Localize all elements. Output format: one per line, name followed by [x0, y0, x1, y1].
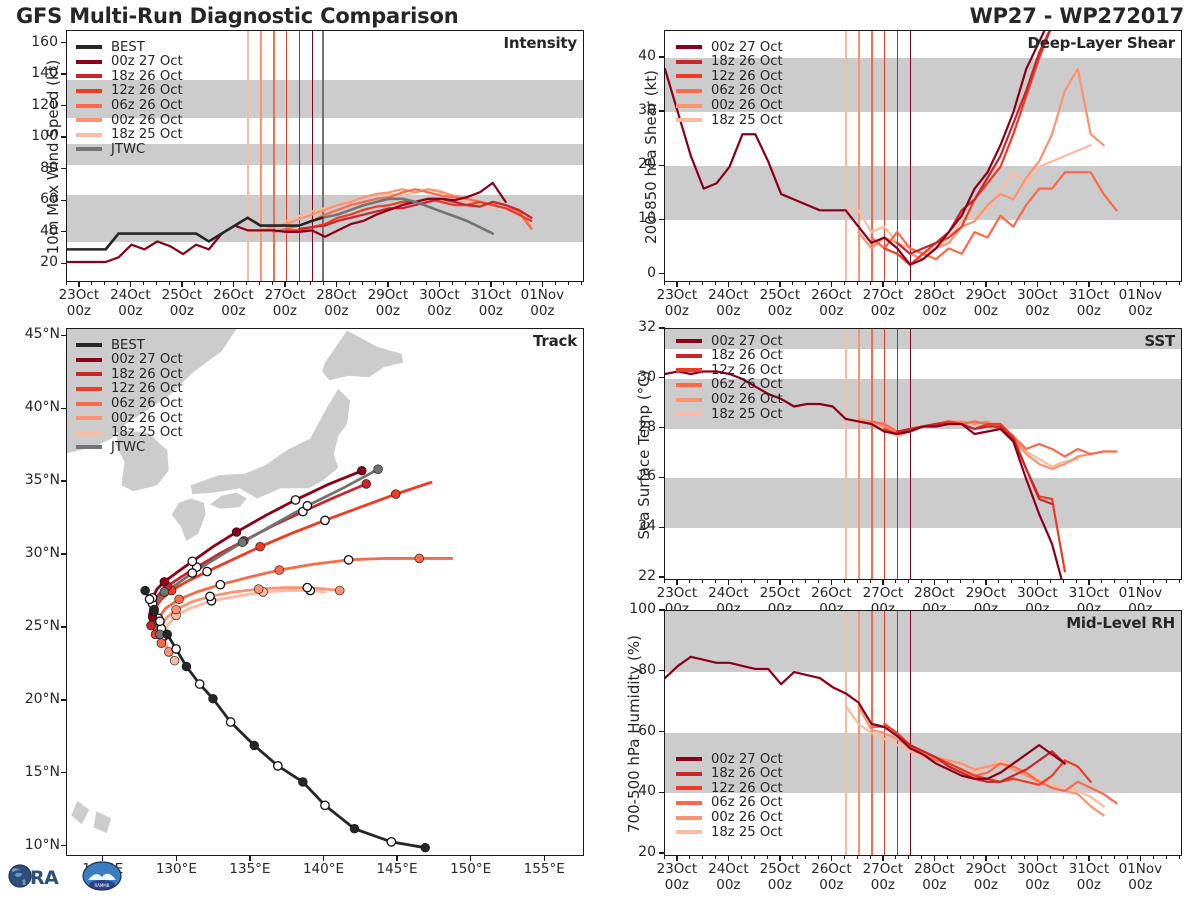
x-minor-tick: [130, 281, 131, 285]
lon-tick-label: 150°E: [436, 861, 506, 877]
track-marker-12z: [291, 496, 299, 504]
x-minor-tick: [1140, 855, 1141, 859]
track-marker-12z: [188, 557, 196, 565]
panel-title-track: Track: [533, 332, 577, 350]
svg-text:RAMMB: RAMMB: [95, 883, 110, 888]
y-tick-label: 32: [612, 319, 656, 335]
legend-swatch: [76, 358, 102, 362]
legend-swatch: [76, 387, 102, 391]
legend-swatch: [76, 343, 102, 347]
track-marker-12z: [188, 569, 196, 577]
axis-label-sst-y: Sea Surface Temp (°C): [635, 330, 653, 580]
track-marker-00z: [250, 741, 259, 750]
x-minor-tick: [664, 281, 665, 285]
series-18z-26-oct: [897, 424, 1052, 504]
track-marker-00z: [150, 605, 159, 614]
legend-label: 00z 26 Oct: [711, 99, 783, 112]
legend-label: 00z 27 Oct: [111, 353, 183, 366]
lat-tick-label: 30°N: [0, 545, 60, 561]
legend-swatch: [76, 416, 102, 420]
track-marker-12z: [274, 762, 282, 770]
x-minor-tick: [947, 855, 948, 859]
legend-label: 06z 26 Oct: [711, 84, 783, 97]
x-tick-sublabel: 00z: [507, 303, 577, 319]
track-marker-00z: [232, 528, 241, 537]
x-minor-tick: [1153, 281, 1154, 285]
legend-swatch: [76, 45, 102, 49]
x-minor-tick: [503, 281, 504, 285]
legend-swatch: [676, 412, 702, 416]
track-marker-00z: [147, 621, 156, 630]
x-minor-tick: [844, 281, 845, 285]
track-marker-00z: [175, 595, 184, 604]
legend-label: 18z 26 Oct: [711, 349, 783, 362]
x-minor-tick: [465, 281, 466, 285]
x-minor-tick: [728, 579, 729, 583]
track-marker-00z: [357, 466, 366, 475]
x-minor-tick: [857, 579, 858, 583]
y-tick-label: 20: [612, 156, 656, 172]
legend-swatch: [76, 104, 102, 108]
legend-item-00z-26-oct: 00z 26 Oct: [76, 411, 183, 426]
legend-sst: 00z 27 Oct18z 26 Oct12z 26 Oct06z 26 Oct…: [676, 334, 783, 422]
legend-swatch: [676, 339, 702, 343]
x-minor-tick: [934, 579, 935, 583]
x-minor-tick: [1011, 579, 1012, 583]
x-minor-tick: [818, 855, 819, 859]
x-minor-tick: [1153, 579, 1154, 583]
x-minor-tick: [882, 281, 883, 285]
legend-item-12z-26-oct: 12z 26 Oct: [76, 84, 183, 99]
x-minor-tick: [117, 281, 118, 285]
legend-item-00z-27-oct: 00z 27 Oct: [76, 353, 183, 368]
x-minor-tick: [728, 281, 729, 285]
x-minor-tick: [934, 281, 935, 285]
y-tick-label: 26: [612, 468, 656, 484]
legend-label: 18z 26 Oct: [711, 55, 783, 68]
track-marker-12z: [145, 595, 153, 603]
landmass-islands-sw2: [71, 801, 89, 824]
legend-label: 00z 27 Oct: [711, 41, 783, 54]
legend-swatch: [676, 45, 702, 49]
x-minor-tick: [895, 281, 896, 285]
legend-item-06z-26-oct: 06z 26 Oct: [676, 378, 783, 393]
legend-label: 12z 26 Oct: [711, 782, 783, 795]
legend-item-best: BEST: [76, 40, 183, 55]
legend-swatch: [676, 830, 702, 834]
panel-title-rh: Mid-Level RH: [1066, 614, 1175, 632]
track-marker-00z: [275, 566, 284, 575]
x-minor-tick: [985, 579, 986, 583]
x-minor-tick: [1166, 855, 1167, 859]
y-tick-label: 100: [612, 601, 656, 617]
x-minor-tick: [426, 281, 427, 285]
track-marker-12z: [216, 580, 224, 588]
y-tick-label: 30: [612, 369, 656, 385]
landmass-hokkaido: [322, 331, 403, 381]
x-minor-tick: [1179, 281, 1180, 285]
track-marker-12z: [321, 516, 329, 524]
x-minor-tick: [754, 855, 755, 859]
x-minor-tick: [375, 281, 376, 285]
y-tick-label: 100: [14, 128, 58, 144]
y-tick-label: 140: [14, 65, 58, 81]
x-minor-tick: [998, 855, 999, 859]
x-minor-tick: [169, 281, 170, 285]
x-minor-tick: [542, 281, 543, 285]
legend-label: BEST: [111, 41, 145, 54]
y-tick-label: 28: [612, 419, 656, 435]
x-minor-tick: [870, 855, 871, 859]
landmass-islands-sw: [94, 811, 112, 833]
legend-swatch: [76, 60, 102, 64]
x-minor-tick: [754, 579, 755, 583]
series-00z-26-oct: [858, 419, 1090, 469]
x-minor-tick: [1088, 281, 1089, 285]
legend-label: 12z 26 Oct: [111, 84, 183, 97]
track-marker-00z: [182, 662, 191, 671]
x-minor-tick: [1088, 855, 1089, 859]
legend-swatch: [676, 786, 702, 790]
x-minor-tick: [490, 281, 491, 285]
x-minor-tick: [1101, 579, 1102, 583]
track-marker-12z: [321, 801, 329, 809]
x-minor-tick: [882, 579, 883, 583]
legend-label: 06z 26 Oct: [711, 796, 783, 809]
track-marker-00z: [254, 585, 263, 594]
x-minor-tick: [805, 855, 806, 859]
legend-item-jtwc: JTWC: [76, 440, 183, 455]
lon-tick-mark: [323, 855, 324, 861]
track-marker-00z: [160, 588, 169, 597]
legend-item-18z-26-oct: 18z 26 Oct: [676, 349, 783, 364]
legend-swatch: [676, 118, 702, 122]
track-marker-00z: [421, 843, 430, 852]
x-minor-tick: [1101, 281, 1102, 285]
legend-rh: 00z 27 Oct18z 26 Oct12z 26 Oct06z 26 Oct…: [676, 752, 783, 840]
x-minor-tick: [792, 281, 793, 285]
x-minor-tick: [767, 855, 768, 859]
y-tick-label: 30: [612, 102, 656, 118]
x-minor-tick: [1076, 579, 1077, 583]
x-minor-tick: [857, 281, 858, 285]
y-tick-label: 80: [14, 160, 58, 176]
x-minor-tick: [1063, 855, 1064, 859]
legend-label: 00z 27 Oct: [711, 753, 783, 766]
panel-title-shear: Deep-Layer Shear: [1027, 34, 1175, 52]
x-minor-tick: [882, 855, 883, 859]
track-marker-00z: [256, 542, 265, 551]
legend-item-18z-25-oct: 18z 25 Oct: [676, 825, 783, 840]
x-minor-tick: [895, 855, 896, 859]
x-tick-label: 01Nov: [1105, 585, 1175, 601]
x-minor-tick: [676, 579, 677, 583]
x-minor-tick: [1114, 855, 1115, 859]
series-00z-26-oct: [858, 69, 1103, 259]
x-minor-tick: [1153, 855, 1154, 859]
lat-tick-label: 35°N: [0, 472, 60, 488]
x-minor-tick: [831, 855, 832, 859]
x-minor-tick: [194, 281, 195, 285]
lat-tick-label: 25°N: [0, 618, 60, 634]
legend-label: 18z 26 Oct: [111, 368, 183, 381]
series-06z-26-oct: [871, 172, 1116, 259]
x-minor-tick: [1024, 855, 1025, 859]
legend-swatch: [676, 772, 702, 776]
legend-label: 00z 27 Oct: [111, 55, 183, 68]
x-minor-tick: [1050, 281, 1051, 285]
x-minor-tick: [1127, 281, 1128, 285]
x-minor-tick: [1037, 579, 1038, 583]
x-minor-tick: [362, 281, 363, 285]
x-minor-tick: [323, 281, 324, 285]
x-minor-tick: [1063, 281, 1064, 285]
lon-tick-mark: [249, 855, 250, 861]
track-marker-00z: [170, 656, 179, 665]
y-tick-label: 120: [14, 97, 58, 113]
x-minor-tick: [413, 281, 414, 285]
x-tick-sublabel: 00z: [1105, 303, 1175, 319]
x-minor-tick: [581, 281, 582, 285]
legend-swatch: [76, 89, 102, 93]
track-marker-12z: [195, 680, 203, 688]
x-minor-tick: [870, 281, 871, 285]
x-minor-tick: [104, 281, 105, 285]
lon-tick-label: 145°E: [362, 861, 432, 877]
x-minor-tick: [387, 281, 388, 285]
x-minor-tick: [1050, 855, 1051, 859]
x-minor-tick: [1101, 855, 1102, 859]
lon-tick-mark: [470, 855, 471, 861]
figure-title-left: GFS Multi-Run Diagnostic Comparison: [16, 4, 458, 28]
x-minor-tick: [91, 281, 92, 285]
x-minor-tick: [1011, 281, 1012, 285]
legend-item-00z-27-oct: 00z 27 Oct: [676, 752, 783, 767]
legend-label: 18z 26 Oct: [111, 70, 183, 83]
x-minor-tick: [921, 855, 922, 859]
x-minor-tick: [1050, 579, 1051, 583]
x-minor-tick: [831, 281, 832, 285]
legend-label: 12z 26 Oct: [111, 382, 183, 395]
figure-title-right: WP27 - WP272017: [970, 4, 1184, 28]
x-minor-tick: [985, 855, 986, 859]
y-tick-label: 40: [612, 48, 656, 64]
x-minor-tick: [998, 281, 999, 285]
x-minor-tick: [754, 281, 755, 285]
x-minor-tick: [516, 281, 517, 285]
legend-swatch: [676, 74, 702, 78]
x-minor-tick: [529, 281, 530, 285]
x-minor-tick: [143, 281, 144, 285]
x-minor-tick: [792, 579, 793, 583]
lat-tick-label: 20°N: [0, 691, 60, 707]
x-minor-tick: [715, 579, 716, 583]
track-marker-00z: [163, 630, 172, 639]
x-minor-tick: [741, 579, 742, 583]
track-marker-00z: [362, 479, 371, 488]
legend-item-06z-26-oct: 06z 26 Oct: [676, 796, 783, 811]
legend-swatch: [76, 445, 102, 449]
x-minor-tick: [310, 281, 311, 285]
legend-swatch: [676, 354, 702, 358]
y-tick-label: 40: [612, 783, 656, 799]
x-minor-tick: [1076, 855, 1077, 859]
x-minor-tick: [1037, 855, 1038, 859]
y-tick-label: 60: [14, 191, 58, 207]
legend-item-00z-27-oct: 00z 27 Oct: [676, 334, 783, 349]
x-minor-tick: [857, 855, 858, 859]
x-minor-tick: [400, 281, 401, 285]
x-minor-tick: [78, 281, 79, 285]
track-marker-12z: [226, 718, 234, 726]
x-minor-tick: [555, 281, 556, 285]
x-minor-tick: [1140, 579, 1141, 583]
landmass-shikoku: [210, 493, 247, 509]
track-marker-00z: [335, 586, 344, 595]
svg-text:CIRA: CIRA: [10, 867, 59, 889]
x-minor-tick: [1127, 855, 1128, 859]
legend-item-00z-26-oct: 00z 26 Oct: [676, 392, 783, 407]
x-minor-tick: [960, 579, 961, 583]
x-minor-tick: [1114, 579, 1115, 583]
x-minor-tick: [1140, 281, 1141, 285]
x-minor-tick: [973, 281, 974, 285]
legend-label: 18z 26 Oct: [711, 767, 783, 780]
x-minor-tick: [1166, 281, 1167, 285]
x-minor-tick: [805, 281, 806, 285]
legend-label: 00z 26 Oct: [711, 393, 783, 406]
legend-item-18z-25-oct: 18z 25 Oct: [676, 407, 783, 422]
legend-item-18z-26-oct: 18z 26 Oct: [76, 367, 183, 382]
lon-tick-mark: [176, 855, 177, 861]
track-marker-00z: [415, 554, 424, 563]
legend-swatch: [676, 383, 702, 387]
x-minor-tick: [818, 281, 819, 285]
x-minor-tick: [220, 281, 221, 285]
x-minor-tick: [702, 281, 703, 285]
track-marker-00z: [298, 778, 307, 787]
x-tick-label: 01Nov: [1105, 287, 1175, 303]
y-tick-label: 20: [612, 844, 656, 860]
legend-item-06z-26-oct: 06z 26 Oct: [76, 98, 183, 113]
y-tick-label: 160: [14, 34, 58, 50]
x-minor-tick: [272, 281, 273, 285]
x-minor-tick: [715, 855, 716, 859]
lon-tick-mark: [396, 855, 397, 861]
lat-tick-label: 10°N: [0, 837, 60, 853]
x-minor-tick: [779, 281, 780, 285]
legend-item-00z-27-oct: 00z 27 Oct: [676, 40, 783, 55]
track-marker-12z: [303, 502, 311, 510]
x-minor-tick: [844, 855, 845, 859]
x-minor-tick: [792, 855, 793, 859]
track-marker-00z: [157, 639, 166, 648]
x-minor-tick: [689, 855, 690, 859]
x-minor-tick: [960, 855, 961, 859]
legend-item-18z-25-oct: 18z 25 Oct: [76, 426, 183, 441]
lon-tick-mark: [544, 855, 545, 861]
x-minor-tick: [1114, 281, 1115, 285]
legend-label: 18z 25 Oct: [711, 114, 783, 127]
x-minor-tick: [478, 281, 479, 285]
legend-swatch: [676, 757, 702, 761]
x-minor-tick: [921, 281, 922, 285]
x-minor-tick: [181, 281, 182, 285]
x-minor-tick: [715, 281, 716, 285]
panel-title-sst: SST: [1144, 332, 1175, 350]
track-marker-00z: [238, 538, 247, 547]
x-minor-tick: [676, 281, 677, 285]
track-marker-12z: [172, 645, 180, 653]
x-minor-tick: [297, 281, 298, 285]
x-minor-tick: [349, 281, 350, 285]
legend-item-12z-26-oct: 12z 26 Oct: [76, 382, 183, 397]
legend-swatch: [676, 104, 702, 108]
x-tick-label: 01Nov: [1105, 861, 1175, 877]
x-minor-tick: [779, 855, 780, 859]
track-marker-00z: [391, 490, 400, 499]
track-marker-00z: [209, 694, 218, 703]
legend-item-00z-27-oct: 00z 27 Oct: [76, 55, 183, 70]
track-06z-26-oct: [157, 558, 452, 643]
x-minor-tick: [767, 579, 768, 583]
x-tick-label: 01Nov: [507, 287, 577, 303]
lon-tick-label: 135°E: [215, 861, 285, 877]
legend-item-jtwc: JTWC: [76, 142, 183, 157]
legend-swatch: [76, 74, 102, 78]
legend-label: JTWC: [111, 143, 145, 156]
legend-swatch: [76, 372, 102, 376]
x-minor-tick: [336, 281, 337, 285]
legend-label: 06z 26 Oct: [711, 378, 783, 391]
x-minor-tick: [702, 579, 703, 583]
lat-tick-label: 45°N: [0, 326, 60, 342]
x-minor-tick: [870, 579, 871, 583]
x-minor-tick: [676, 855, 677, 859]
cira-logo: CIRA RAMMB: [6, 856, 124, 896]
legend-item-06z-26-oct: 06z 26 Oct: [76, 396, 183, 411]
x-minor-tick: [741, 281, 742, 285]
x-minor-tick: [1024, 579, 1025, 583]
track-marker-12z: [344, 556, 352, 564]
x-minor-tick: [934, 855, 935, 859]
y-tick-label: 24: [612, 518, 656, 534]
x-minor-tick: [767, 281, 768, 285]
legend-swatch: [676, 816, 702, 820]
panel-title-intensity: Intensity: [503, 34, 577, 52]
landmass-luzon: [66, 724, 67, 797]
x-minor-tick: [908, 855, 909, 859]
legend-swatch: [76, 402, 102, 406]
legend-label: 00z 26 Oct: [111, 114, 183, 127]
x-minor-tick: [1127, 579, 1128, 583]
x-minor-tick: [741, 855, 742, 859]
legend-label: 00z 26 Oct: [711, 811, 783, 824]
legend-label: 06z 26 Oct: [111, 99, 183, 112]
x-minor-tick: [973, 855, 974, 859]
x-minor-tick: [233, 281, 234, 285]
x-minor-tick: [921, 579, 922, 583]
y-tick-label: 40: [14, 223, 58, 239]
x-minor-tick: [664, 855, 665, 859]
x-minor-tick: [805, 579, 806, 583]
landmass-kyushu: [172, 499, 206, 541]
lon-tick-label: 140°E: [289, 861, 359, 877]
lat-tick-label: 40°N: [0, 399, 60, 415]
x-minor-tick: [947, 281, 948, 285]
x-minor-tick: [689, 579, 690, 583]
legend-item-06z-26-oct: 06z 26 Oct: [676, 84, 783, 99]
